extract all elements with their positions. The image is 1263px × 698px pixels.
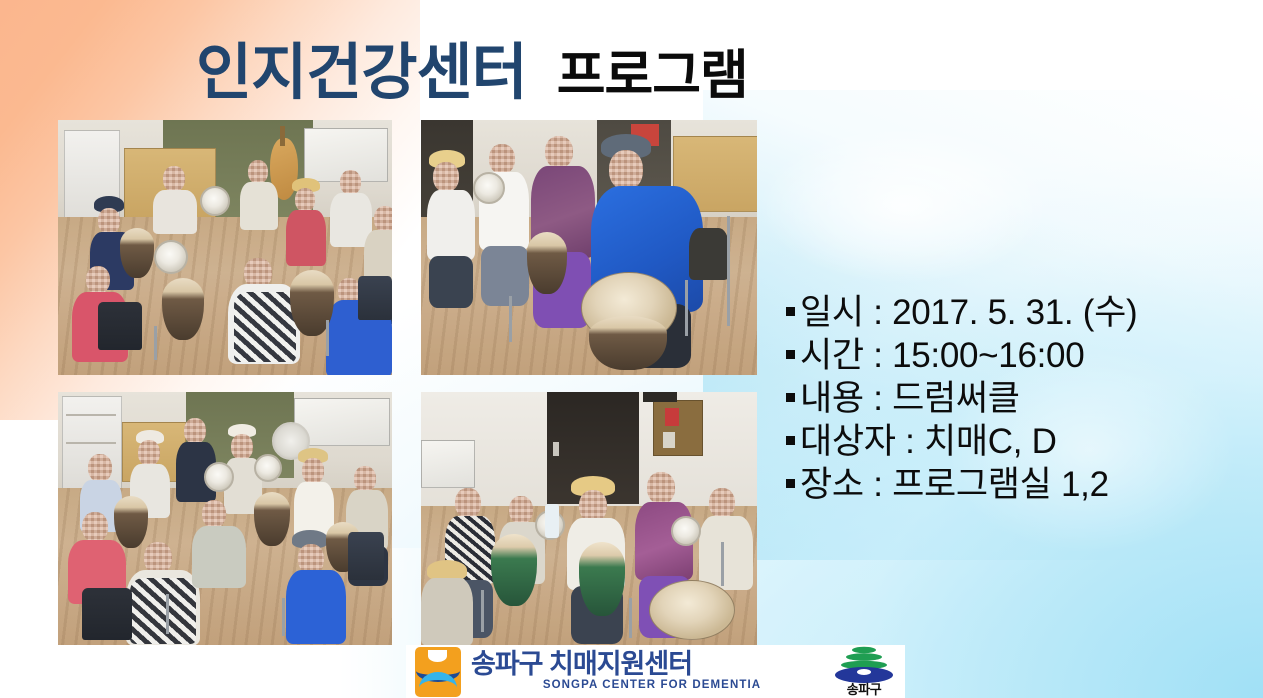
background-cloud-highlight-a: [760, 120, 1080, 310]
photo3-djembe-2: [254, 492, 290, 546]
slide-canvas: 인지건강센터 프로그램: [0, 0, 1263, 698]
photo-drum-circle-2: [421, 120, 757, 375]
info-item-time: 시간 : 15:00~16:00: [786, 334, 1206, 377]
info-item-place: 장소 : 프로그램실 1,2: [786, 463, 1206, 506]
photo3-tambourine-1: [204, 462, 234, 492]
songpa-gu-label: 송파구: [833, 679, 895, 698]
photo1-guitar-neck: [280, 126, 285, 146]
photo-drum-circle-4: [421, 392, 757, 645]
footer-logo-text: 송파구 치매지원센터 SONGPA CENTER FOR DEMENTIA: [471, 650, 833, 692]
photo-drum-circle-3: [58, 392, 392, 645]
bullet-square-icon: [786, 393, 795, 402]
info-item-content-text: 내용 : 드럼써클: [800, 377, 1020, 420]
photo4-ceiling-trim: [643, 392, 677, 402]
page-title: 인지건강센터 프로그램: [196, 42, 748, 103]
photo4-whiteboard: [421, 440, 475, 488]
footer-logo-band: 송파구 치매지원센터 SONGPA CENTER FOR DEMENTIA 송파…: [406, 645, 905, 698]
info-item-date: 일시 : 2017. 5. 31. (수): [786, 291, 1206, 334]
bullet-square-icon: [786, 307, 795, 316]
info-item-date-text: 일시 : 2017. 5. 31. (수): [800, 291, 1137, 334]
photo1-djembe-3: [120, 228, 154, 278]
photo3-djembe-1: [114, 496, 148, 548]
photo1-djembe-1: [162, 278, 204, 340]
photo3-chair-2: [348, 532, 384, 580]
bullet-square-icon: [786, 479, 795, 488]
info-item-target-text: 대상자 : 치매C, D: [800, 420, 1057, 463]
info-item-target: 대상자 : 치매C, D: [786, 420, 1206, 463]
photo3-tambourine-2: [254, 454, 282, 482]
photo4-red-marker: [665, 408, 679, 426]
photo2-djembe-large: [589, 316, 667, 370]
photo4-tambourine-2: [671, 516, 701, 546]
photo4-djembe-green-2: [579, 542, 625, 616]
songpa-center-mark-icon: [415, 647, 461, 697]
photo4-door-handle: [553, 442, 559, 456]
title-main-text: 인지건강센터: [196, 42, 527, 103]
photo3-chair-1: [82, 588, 132, 640]
songpa-gu-emblem-icon: 송파구: [833, 646, 895, 697]
photo2-tambourine: [473, 172, 505, 204]
bullet-square-icon: [786, 350, 795, 359]
photo4-djembe-green: [491, 534, 537, 606]
photo1-tambourine-2: [200, 186, 230, 216]
photo4-djembe-head: [649, 580, 735, 640]
info-item-content: 내용 : 드럼써클: [786, 377, 1206, 420]
photo1-chair-2: [358, 276, 392, 320]
logo-english-name: SONGPA CENTER FOR DEMENTIA: [471, 679, 833, 693]
photo1-tambourine-1: [154, 240, 188, 274]
logo-korean-name: 송파구 치매지원센터: [471, 650, 833, 678]
photo1-chair-1: [98, 302, 142, 350]
program-info-list: 일시 : 2017. 5. 31. (수) 시간 : 15:00~16:00 내…: [786, 291, 1206, 506]
bullet-square-icon: [786, 436, 795, 445]
info-item-time-text: 시간 : 15:00~16:00: [800, 334, 1084, 377]
photo-drum-circle-1: [58, 120, 392, 375]
photo2-djembe-small: [527, 232, 567, 294]
title-sub-text: 프로그램: [557, 49, 748, 102]
photo4-water-bottle: [545, 504, 559, 538]
photo4-white-marker: [663, 432, 675, 448]
info-item-place-text: 장소 : 프로그램실 1,2: [800, 463, 1109, 506]
